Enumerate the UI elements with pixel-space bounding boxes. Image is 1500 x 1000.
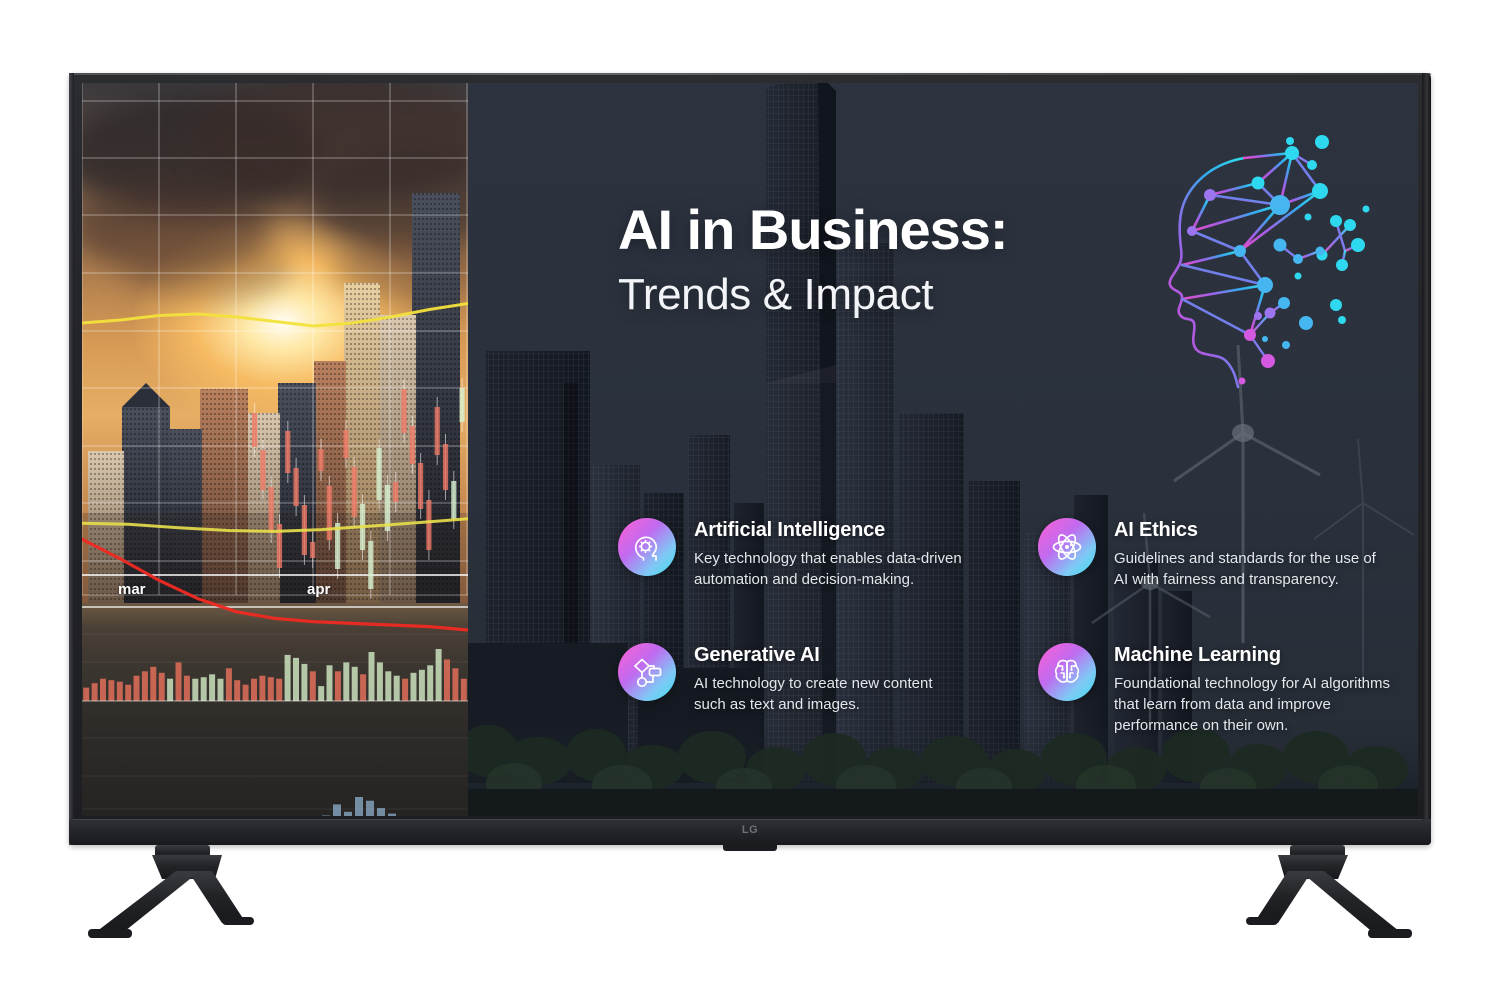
axis-tick-apr: apr bbox=[307, 581, 330, 598]
card-title: Generative AI bbox=[694, 644, 932, 667]
card-desc-line1: Key technology that enables data-driven bbox=[694, 550, 962, 567]
brain-circuit-icon bbox=[1038, 643, 1096, 701]
flowchart-icon bbox=[618, 643, 676, 701]
card-desc-line3: performance on their own. bbox=[1114, 717, 1288, 734]
tv-left-edge bbox=[69, 73, 74, 845]
tv-right-edge bbox=[1422, 73, 1431, 845]
page-title: AI in Business: bbox=[618, 201, 1008, 260]
head-gear-icon bbox=[618, 518, 676, 576]
television: mar apr bbox=[69, 73, 1431, 845]
card-title: Artificial Intelligence bbox=[694, 519, 962, 542]
axis-tick-mar: mar bbox=[118, 581, 146, 598]
tv-stand bbox=[0, 845, 1500, 940]
card-desc-line1: AI technology to create new content bbox=[694, 675, 932, 692]
card-title: AI Ethics bbox=[1114, 519, 1376, 542]
card-description: Key technology that enables data-driven … bbox=[694, 548, 962, 591]
ai-brain-network-icon bbox=[1140, 113, 1410, 403]
card-description: Guidelines and standards for the use of … bbox=[1114, 548, 1376, 591]
feature-card-machine-learning[interactable]: Machine Learning Foundational technology… bbox=[1038, 643, 1408, 737]
feature-card-generative-ai[interactable]: Generative AI AI technology to create ne… bbox=[618, 643, 988, 737]
card-desc-line2: that learn from data and improve bbox=[1114, 696, 1331, 713]
card-description: AI technology to create new content such… bbox=[694, 673, 932, 716]
lg-brand-logo: LG bbox=[742, 824, 758, 836]
stand-leg-right bbox=[1246, 845, 1412, 938]
tv-screen: mar apr bbox=[82, 83, 1418, 816]
card-title: Machine Learning bbox=[1114, 644, 1390, 667]
tv-top-highlight bbox=[69, 73, 1431, 75]
feature-card-artificial-intelligence[interactable]: Artificial Intelligence Key technology t… bbox=[618, 518, 988, 591]
card-desc-line1: Guidelines and standards for the use of bbox=[1114, 550, 1376, 567]
card-desc-line2: such as text and images. bbox=[694, 696, 860, 713]
presentation-slide: AI in Business: Trends & Impact bbox=[468, 83, 1418, 816]
card-text-block: Artificial Intelligence Key technology t… bbox=[694, 518, 962, 591]
card-text-block: Generative AI AI technology to create ne… bbox=[694, 643, 932, 716]
photo-panel: mar apr bbox=[82, 83, 468, 816]
atom-icon bbox=[1038, 518, 1096, 576]
card-desc-line2: automation and decision-making. bbox=[694, 571, 914, 588]
card-text-block: Machine Learning Foundational technology… bbox=[1114, 643, 1390, 737]
card-desc-line1: Foundational technology for AI algorithm… bbox=[1114, 675, 1390, 692]
page-subtitle: Trends & Impact bbox=[618, 270, 1008, 320]
tv-bottom-bezel: LG bbox=[69, 819, 1431, 845]
feature-card-grid: Artificial Intelligence Key technology t… bbox=[618, 518, 1408, 736]
card-text-block: AI Ethics Guidelines and standards for t… bbox=[1114, 518, 1376, 591]
slide-title-block: AI in Business: Trends & Impact bbox=[618, 201, 1008, 320]
stand-leg-left bbox=[88, 845, 254, 938]
card-desc-line2: AI with fairness and transparency. bbox=[1114, 571, 1339, 588]
screenshot-root: mar apr bbox=[0, 0, 1500, 1000]
financial-chart-overlay bbox=[82, 83, 468, 816]
card-description: Foundational technology for AI algorithm… bbox=[1114, 673, 1390, 737]
feature-card-ai-ethics[interactable]: AI Ethics Guidelines and standards for t… bbox=[1038, 518, 1408, 591]
